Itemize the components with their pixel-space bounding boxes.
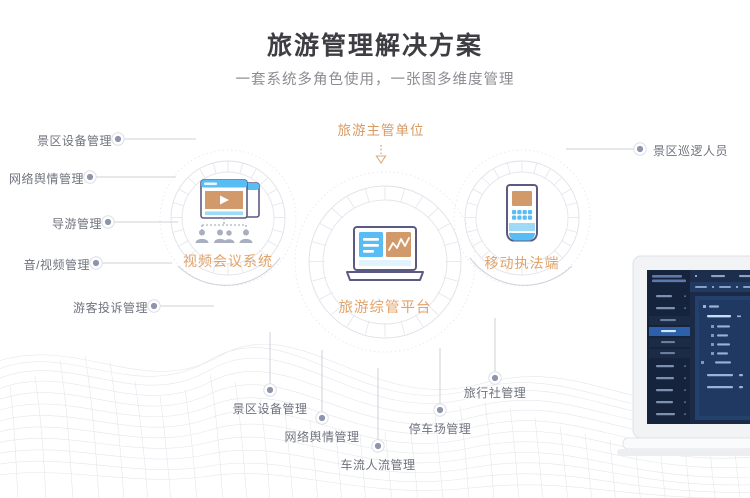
node-video-conference[interactable]: 视频会议系统 [168, 178, 288, 271]
authority-badge-label: 旅游主管单位 [330, 115, 432, 142]
spoke-left-1[interactable]: 景区设备管理 [0, 132, 112, 149]
solution-diagram-page: 旅游管理解决方案 一套系统多角色使用，一张图多维度管理 旅游主管单位 [0, 0, 750, 498]
handheld-device-icon [494, 182, 550, 248]
spoke-left-2[interactable]: 网络舆情管理 [0, 170, 84, 187]
authority-badge: 旅游主管单位 [330, 115, 432, 142]
spoke-bottom-1[interactable]: 景区设备管理 [212, 400, 328, 417]
laptop-mockup [615, 248, 750, 498]
spoke-left-3[interactable]: 导游管理 [0, 215, 102, 232]
node-label-video-conference: 视频会议系统 [168, 251, 288, 271]
spoke-bottom-5[interactable]: 旅行社管理 [437, 384, 553, 401]
video-window-icon [185, 178, 271, 246]
spoke-left-4[interactable]: 音/视频管理 [0, 256, 90, 273]
node-label-mobile-enforcement: 移动执法端 [462, 253, 582, 273]
node-tourism-platform[interactable]: 旅游综管平台 [325, 225, 445, 317]
down-triangle-icon [374, 145, 388, 165]
spoke-right-1[interactable]: 景区巡逻人员 [653, 142, 749, 159]
node-mobile-enforcement[interactable]: 移动执法端 [462, 182, 582, 273]
spoke-bottom-2[interactable]: 网络舆情管理 [264, 428, 380, 445]
laptop-dashboard-icon [333, 225, 437, 291]
page-title: 旅游管理解决方案 [0, 26, 750, 62]
node-label-tourism-platform: 旅游综管平台 [325, 296, 445, 317]
spoke-bottom-4[interactable]: 停车场管理 [382, 420, 498, 437]
page-subtitle: 一套系统多角色使用，一张图多维度管理 [0, 68, 750, 89]
spoke-bottom-3[interactable]: 车流人流管理 [320, 456, 436, 473]
spoke-left-5[interactable]: 游客投诉管理 [0, 299, 148, 316]
